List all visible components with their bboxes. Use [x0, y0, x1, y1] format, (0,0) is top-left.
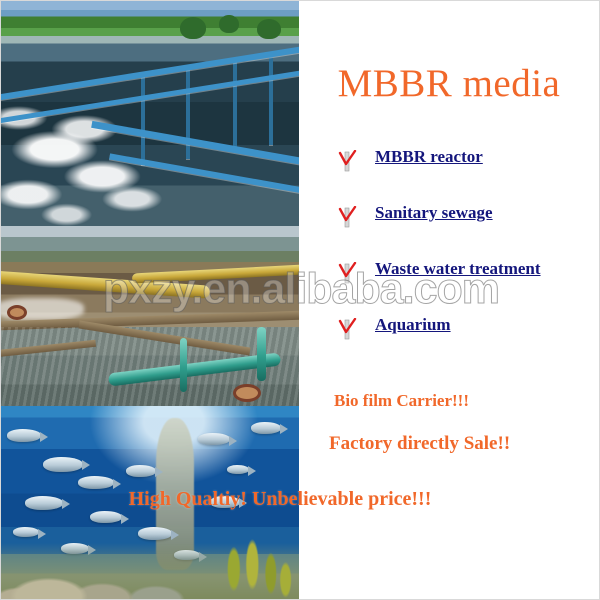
tree-shape — [219, 15, 239, 33]
railing-post — [141, 75, 145, 165]
list-item: Waste water treatment — [337, 258, 600, 314]
product-poster: MBBR media MBBR reactor — [0, 0, 600, 600]
fish-shape — [251, 422, 281, 434]
teal-pipe — [257, 327, 266, 381]
list-item-label[interactable]: Aquarium — [375, 314, 451, 336]
tree-shape — [257, 19, 281, 39]
check-mark-icon — [337, 318, 357, 340]
fish-shape — [126, 465, 156, 477]
list-item: Sanitary sewage — [337, 202, 600, 258]
aeration-basin-photo — [1, 1, 299, 226]
page-title: MBBR media — [299, 63, 599, 105]
seaweed-shape — [219, 515, 293, 600]
fish-shape — [43, 457, 83, 472]
feature-list: MBBR reactor Sanitary sewage — [337, 146, 600, 370]
railing-post — [269, 55, 273, 145]
railing-bar — [1, 41, 299, 102]
fish-shape — [138, 527, 172, 540]
list-item-label[interactable]: MBBR reactor — [375, 146, 483, 168]
tree-shape — [180, 17, 206, 39]
fish-shape — [13, 527, 39, 537]
treatment-tanks-photo — [1, 226, 299, 406]
railing-bar — [109, 153, 299, 196]
list-item-label[interactable]: Sanitary sewage — [375, 202, 493, 224]
list-item-label[interactable]: Waste water treatment — [375, 258, 541, 280]
teal-pipe — [180, 338, 187, 392]
fish-shape — [198, 433, 230, 445]
promo-line-1: Bio film Carrier!!! — [334, 391, 469, 411]
fish-shape — [227, 465, 249, 474]
list-item: MBBR reactor — [337, 146, 600, 202]
check-mark-icon — [337, 206, 357, 228]
promo-line-2: Factory directly Sale!! — [329, 433, 510, 455]
fish-shape — [7, 429, 41, 442]
railing-post — [233, 60, 237, 150]
fish-shape — [90, 511, 122, 523]
check-mark-icon — [337, 150, 357, 172]
promo-line-3: High Qualtiy! Unbelievable price!!! — [0, 488, 600, 511]
list-item: Aquarium — [337, 314, 600, 370]
yellow-pipe — [132, 265, 299, 284]
check-mark-icon — [337, 262, 357, 284]
